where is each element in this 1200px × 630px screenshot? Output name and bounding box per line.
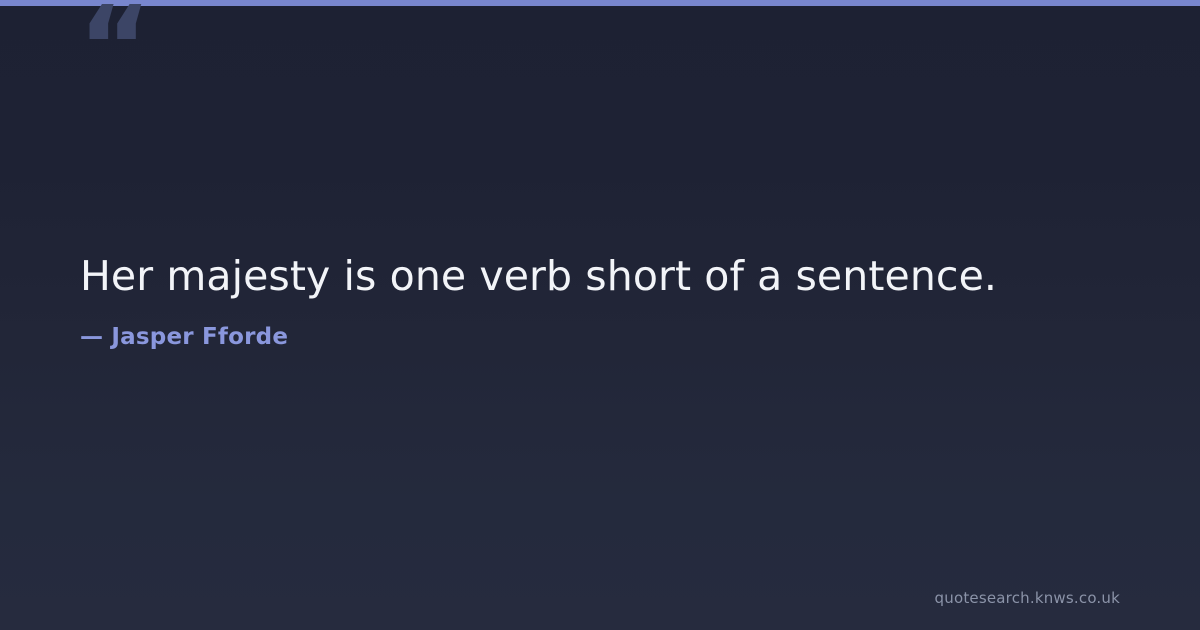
quote-content-block: Her majesty is one verb short of a sente…: [80, 250, 1120, 352]
quote-attribution: — Jasper Fforde: [80, 324, 1120, 352]
attribution-dash: —: [80, 324, 103, 350]
quote-card: “ Her majesty is one verb short of a sen…: [0, 0, 1200, 630]
quotation-mark-icon: “: [78, 0, 150, 104]
author-name: Jasper Fforde: [111, 324, 288, 350]
top-accent-bar: [0, 0, 1200, 6]
site-watermark: quotesearch.knws.co.uk: [935, 589, 1120, 607]
quote-text: Her majesty is one verb short of a sente…: [80, 250, 1120, 302]
